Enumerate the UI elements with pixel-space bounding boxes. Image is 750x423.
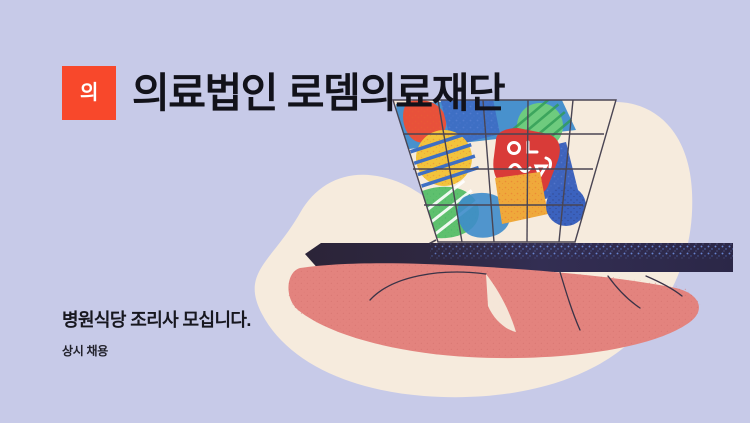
logo-badge-text: 의 xyxy=(80,83,98,103)
banner-illustration xyxy=(0,0,750,423)
page-title: 의료법인 로뎀의료재단 xyxy=(132,73,504,114)
recruitment-status: 상시 채용 xyxy=(62,342,108,359)
job-headline: 병원식당 조리사 모십니다. xyxy=(62,306,251,332)
organization-title-row: 의 의료법인 로뎀의료재단 xyxy=(62,66,504,120)
blue-circle xyxy=(546,186,586,226)
job-posting-banner: 의 의료법인 로뎀의료재단 병원식당 조리사 모십니다. 상시 채용 xyxy=(0,0,750,423)
logo-badge: 의 xyxy=(62,66,116,120)
